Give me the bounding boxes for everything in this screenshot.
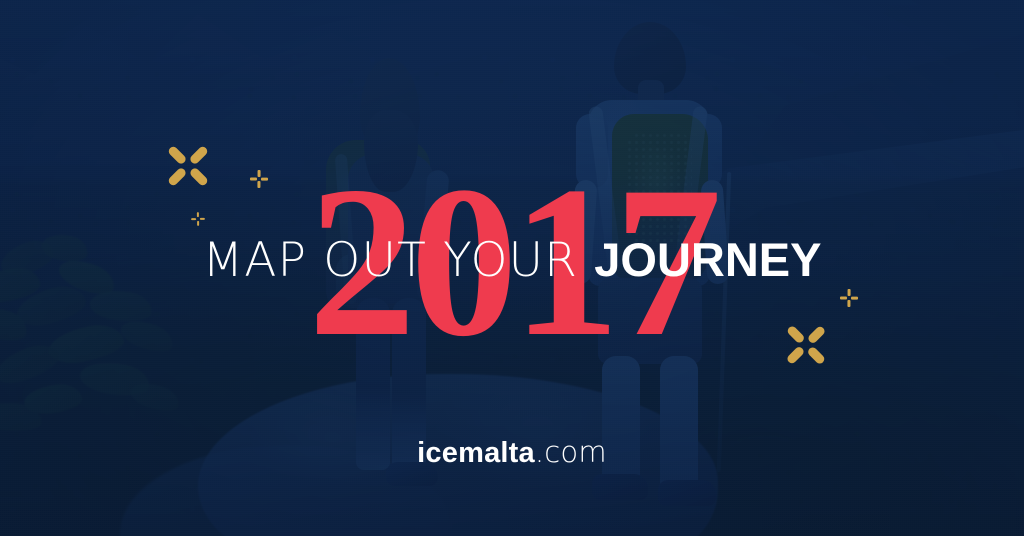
promo-banner: 2017 MAP OUT YOUR JOURNEY icemalta.com (0, 0, 1024, 536)
headline: MAP OUT YOUR JOURNEY (0, 236, 1024, 284)
brand-tld: .com (535, 435, 607, 469)
brand-name: icemalta (417, 437, 535, 469)
brand-logo[interactable]: icemalta.com (0, 438, 1024, 468)
headline-thin-part: MAP OUT YOUR (203, 233, 595, 288)
headline-bold-part: JOURNEY (594, 233, 821, 286)
